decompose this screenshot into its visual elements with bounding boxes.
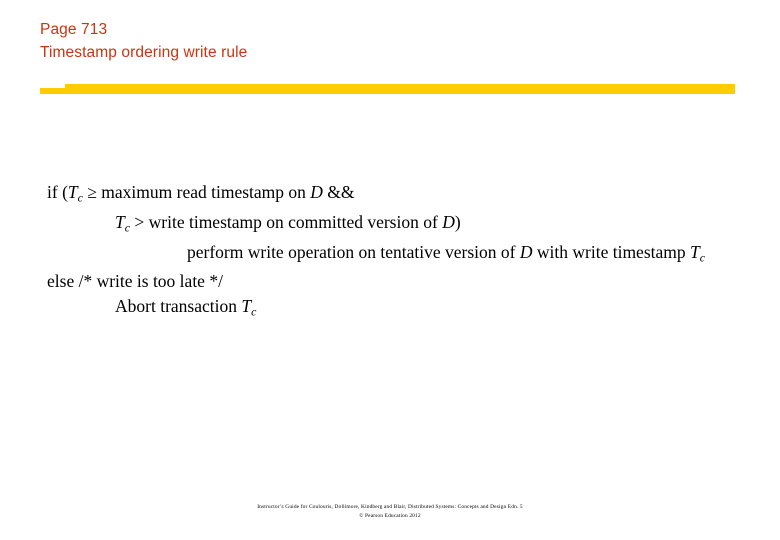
- footer-attribution: Instructor’s Guide for Coulouris, Dollim…: [0, 503, 780, 512]
- math-variable: T: [68, 182, 78, 202]
- slide-canvas: Page 713 Timestamp ordering write rule i…: [0, 0, 780, 540]
- rule-line: perform write operation on tentative ver…: [47, 240, 780, 270]
- rule-text: Abort transaction: [115, 296, 241, 316]
- divider-bar: [40, 84, 735, 94]
- footer: Instructor’s Guide for Coulouris, Dollim…: [0, 503, 780, 520]
- rule-line: else /* write is too late */: [47, 269, 780, 294]
- math-variable: T: [690, 242, 700, 262]
- rule-line: if (Tc ≥ maximum read timestamp on D &&: [47, 180, 780, 210]
- rule-text: > write timestamp on committed version o…: [130, 212, 442, 232]
- rule-text: &&: [323, 182, 355, 202]
- math-variable: T: [115, 212, 125, 232]
- math-variable: T: [241, 296, 251, 316]
- rule-text: with write timestamp: [533, 242, 690, 262]
- math-variable: D: [442, 212, 455, 232]
- rule-text: perform write operation on tentative ver…: [187, 242, 520, 262]
- title-block: Page 713 Timestamp ordering write rule: [40, 18, 740, 64]
- page-title: Timestamp ordering write rule: [40, 41, 740, 64]
- divider-bar-notch: [40, 84, 65, 88]
- rule-line: Tc > write timestamp on committed versio…: [47, 210, 780, 240]
- math-subscript: c: [251, 304, 256, 318]
- rule-text: ≥ maximum read timestamp on: [83, 182, 310, 202]
- rule-line: Abort transaction Tc: [47, 294, 780, 324]
- rule-text: else /* write is too late */: [47, 271, 223, 291]
- rule-text: ): [455, 212, 461, 232]
- math-variable: D: [310, 182, 323, 202]
- math-variable: D: [520, 242, 533, 262]
- page-label: Page 713: [40, 18, 740, 41]
- rule-body: if (Tc ≥ maximum read timestamp on D &&T…: [47, 180, 780, 324]
- footer-copyright: © Pearson Education 2012: [0, 512, 780, 521]
- rule-text: if (: [47, 182, 68, 202]
- math-subscript: c: [700, 250, 705, 264]
